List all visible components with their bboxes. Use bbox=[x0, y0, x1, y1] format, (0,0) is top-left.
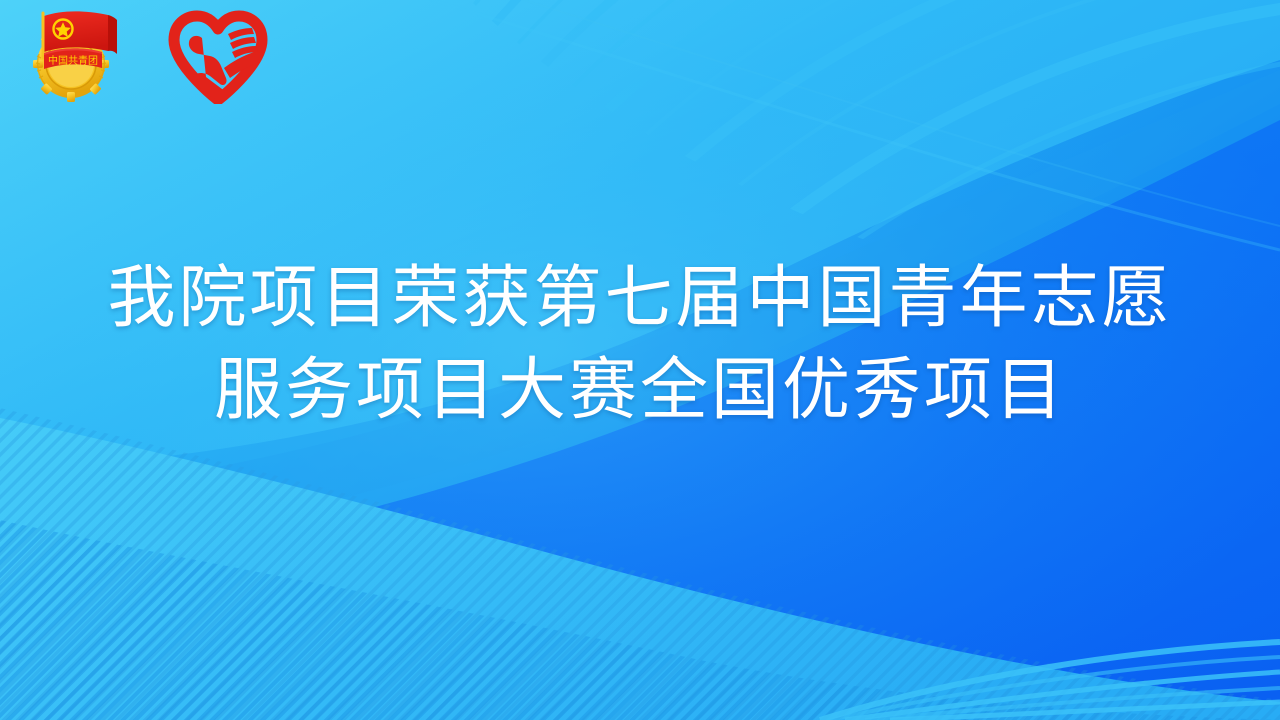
communist-youth-league-emblem-icon: 中国共青团 bbox=[22, 6, 122, 106]
logo-row: 中国共青团 bbox=[22, 6, 270, 106]
background-artwork bbox=[0, 0, 1280, 720]
announcement-banner: 中国共青团 我院项目荣获第七届中国青年志愿 服务项目大赛全国优秀项目 bbox=[0, 0, 1280, 720]
youth-volunteers-heart-hand-icon bbox=[166, 8, 270, 104]
emblem-banner-text: 中国共青团 bbox=[48, 54, 98, 67]
emblem-banner: 中国共青团 bbox=[44, 48, 102, 69]
